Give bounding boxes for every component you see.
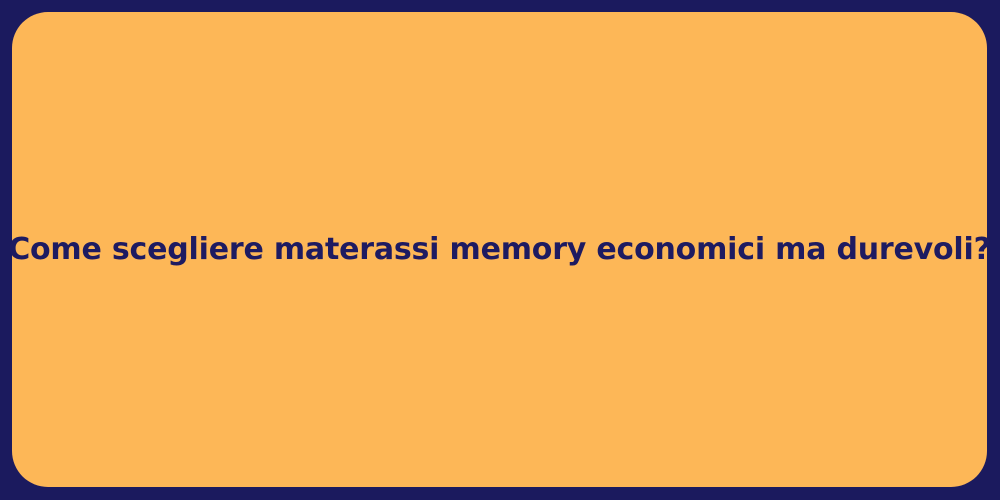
page-title: Come scegliere materassi memory economic… <box>8 231 991 269</box>
outer-frame: Come scegliere materassi memory economic… <box>0 0 1000 500</box>
headline-card: Come scegliere materassi memory economic… <box>12 12 987 487</box>
